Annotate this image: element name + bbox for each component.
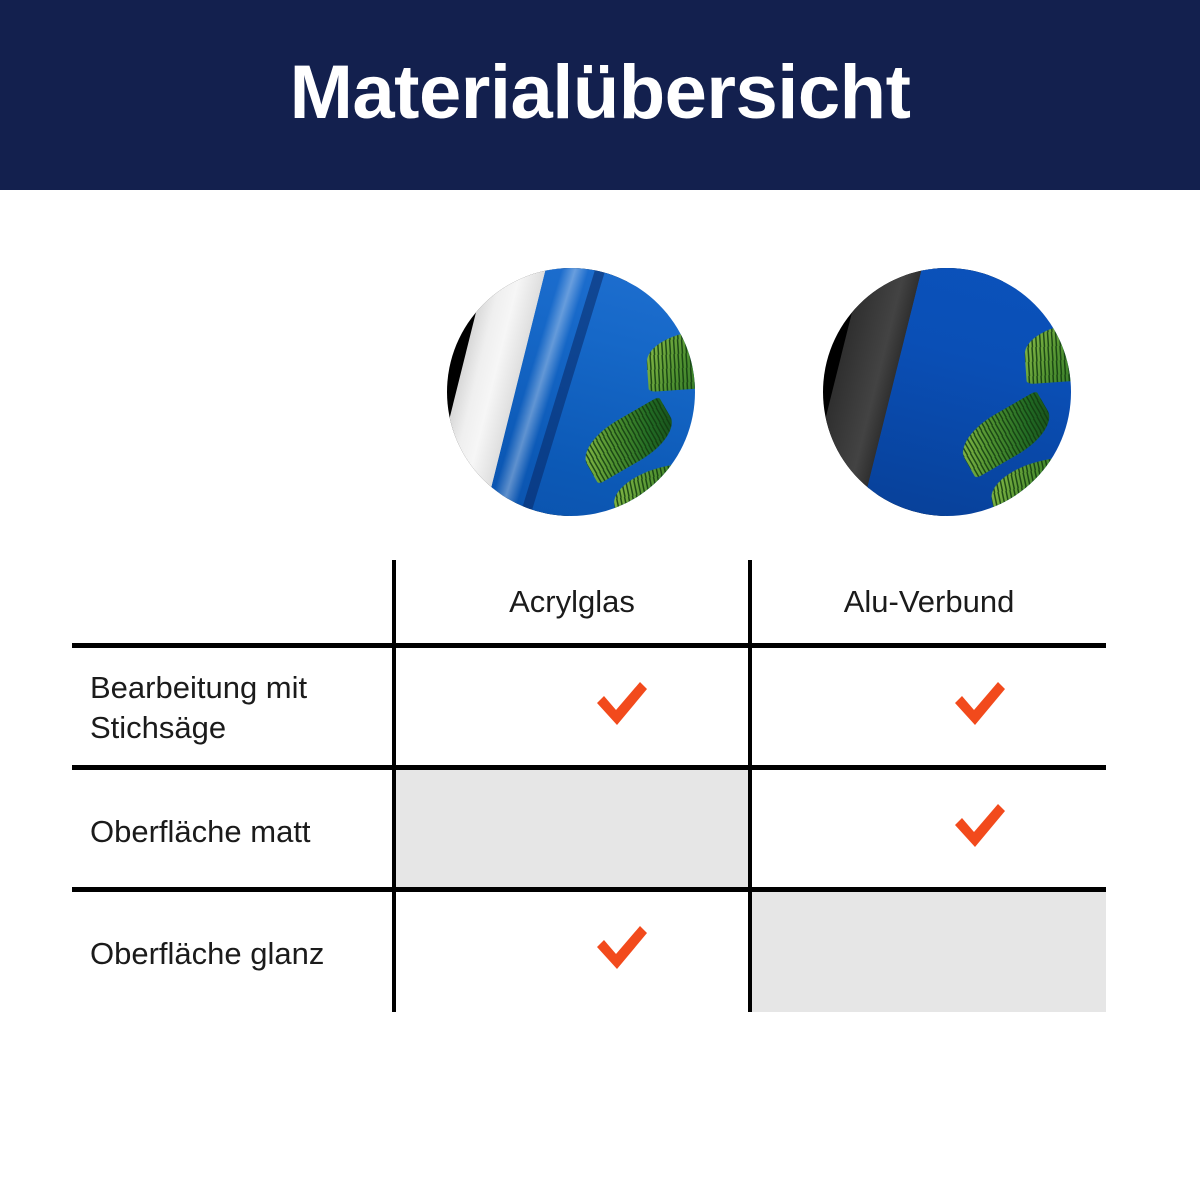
preview-acrylglas[interactable] <box>447 268 695 516</box>
product-previews <box>0 268 1200 516</box>
alu-verbund-scene <box>823 268 1071 516</box>
cell-unavailable-glanz-alu-verbund <box>752 892 1106 1012</box>
header-banner: Materialübersicht <box>0 0 1200 190</box>
page-title: Materialübersicht <box>290 55 911 131</box>
preview-alu-verbund[interactable] <box>823 268 1071 516</box>
material-overview-page: Materialübersicht <box>0 0 1200 1200</box>
row-label-oberflaeche-glanz: Oberfläche glanz <box>90 934 385 974</box>
check-mark-icon <box>594 922 650 978</box>
check-mark-icon <box>594 678 650 734</box>
row-label-bearbeitung-stichsaege: Bearbeitung mit Stichsäge <box>90 668 385 747</box>
row-divider-2 <box>72 887 1106 892</box>
acrylglas-scene <box>447 268 695 516</box>
cell-unavailable-matt-acrylglas <box>396 770 748 887</box>
column-header-alu-verbund: Alu-Verbund <box>752 560 1106 643</box>
row-label-oberflaeche-matt: Oberfläche matt <box>90 812 385 852</box>
column-header-acrylglas: Acrylglas <box>396 560 748 643</box>
row-divider-1 <box>72 765 1106 770</box>
material-comparison-table: Acrylglas Alu-Verbund Bearbeitung mit St… <box>72 560 1106 1012</box>
row-divider-header <box>72 643 1106 648</box>
check-mark-icon <box>952 678 1008 734</box>
check-mark-icon <box>952 800 1008 856</box>
